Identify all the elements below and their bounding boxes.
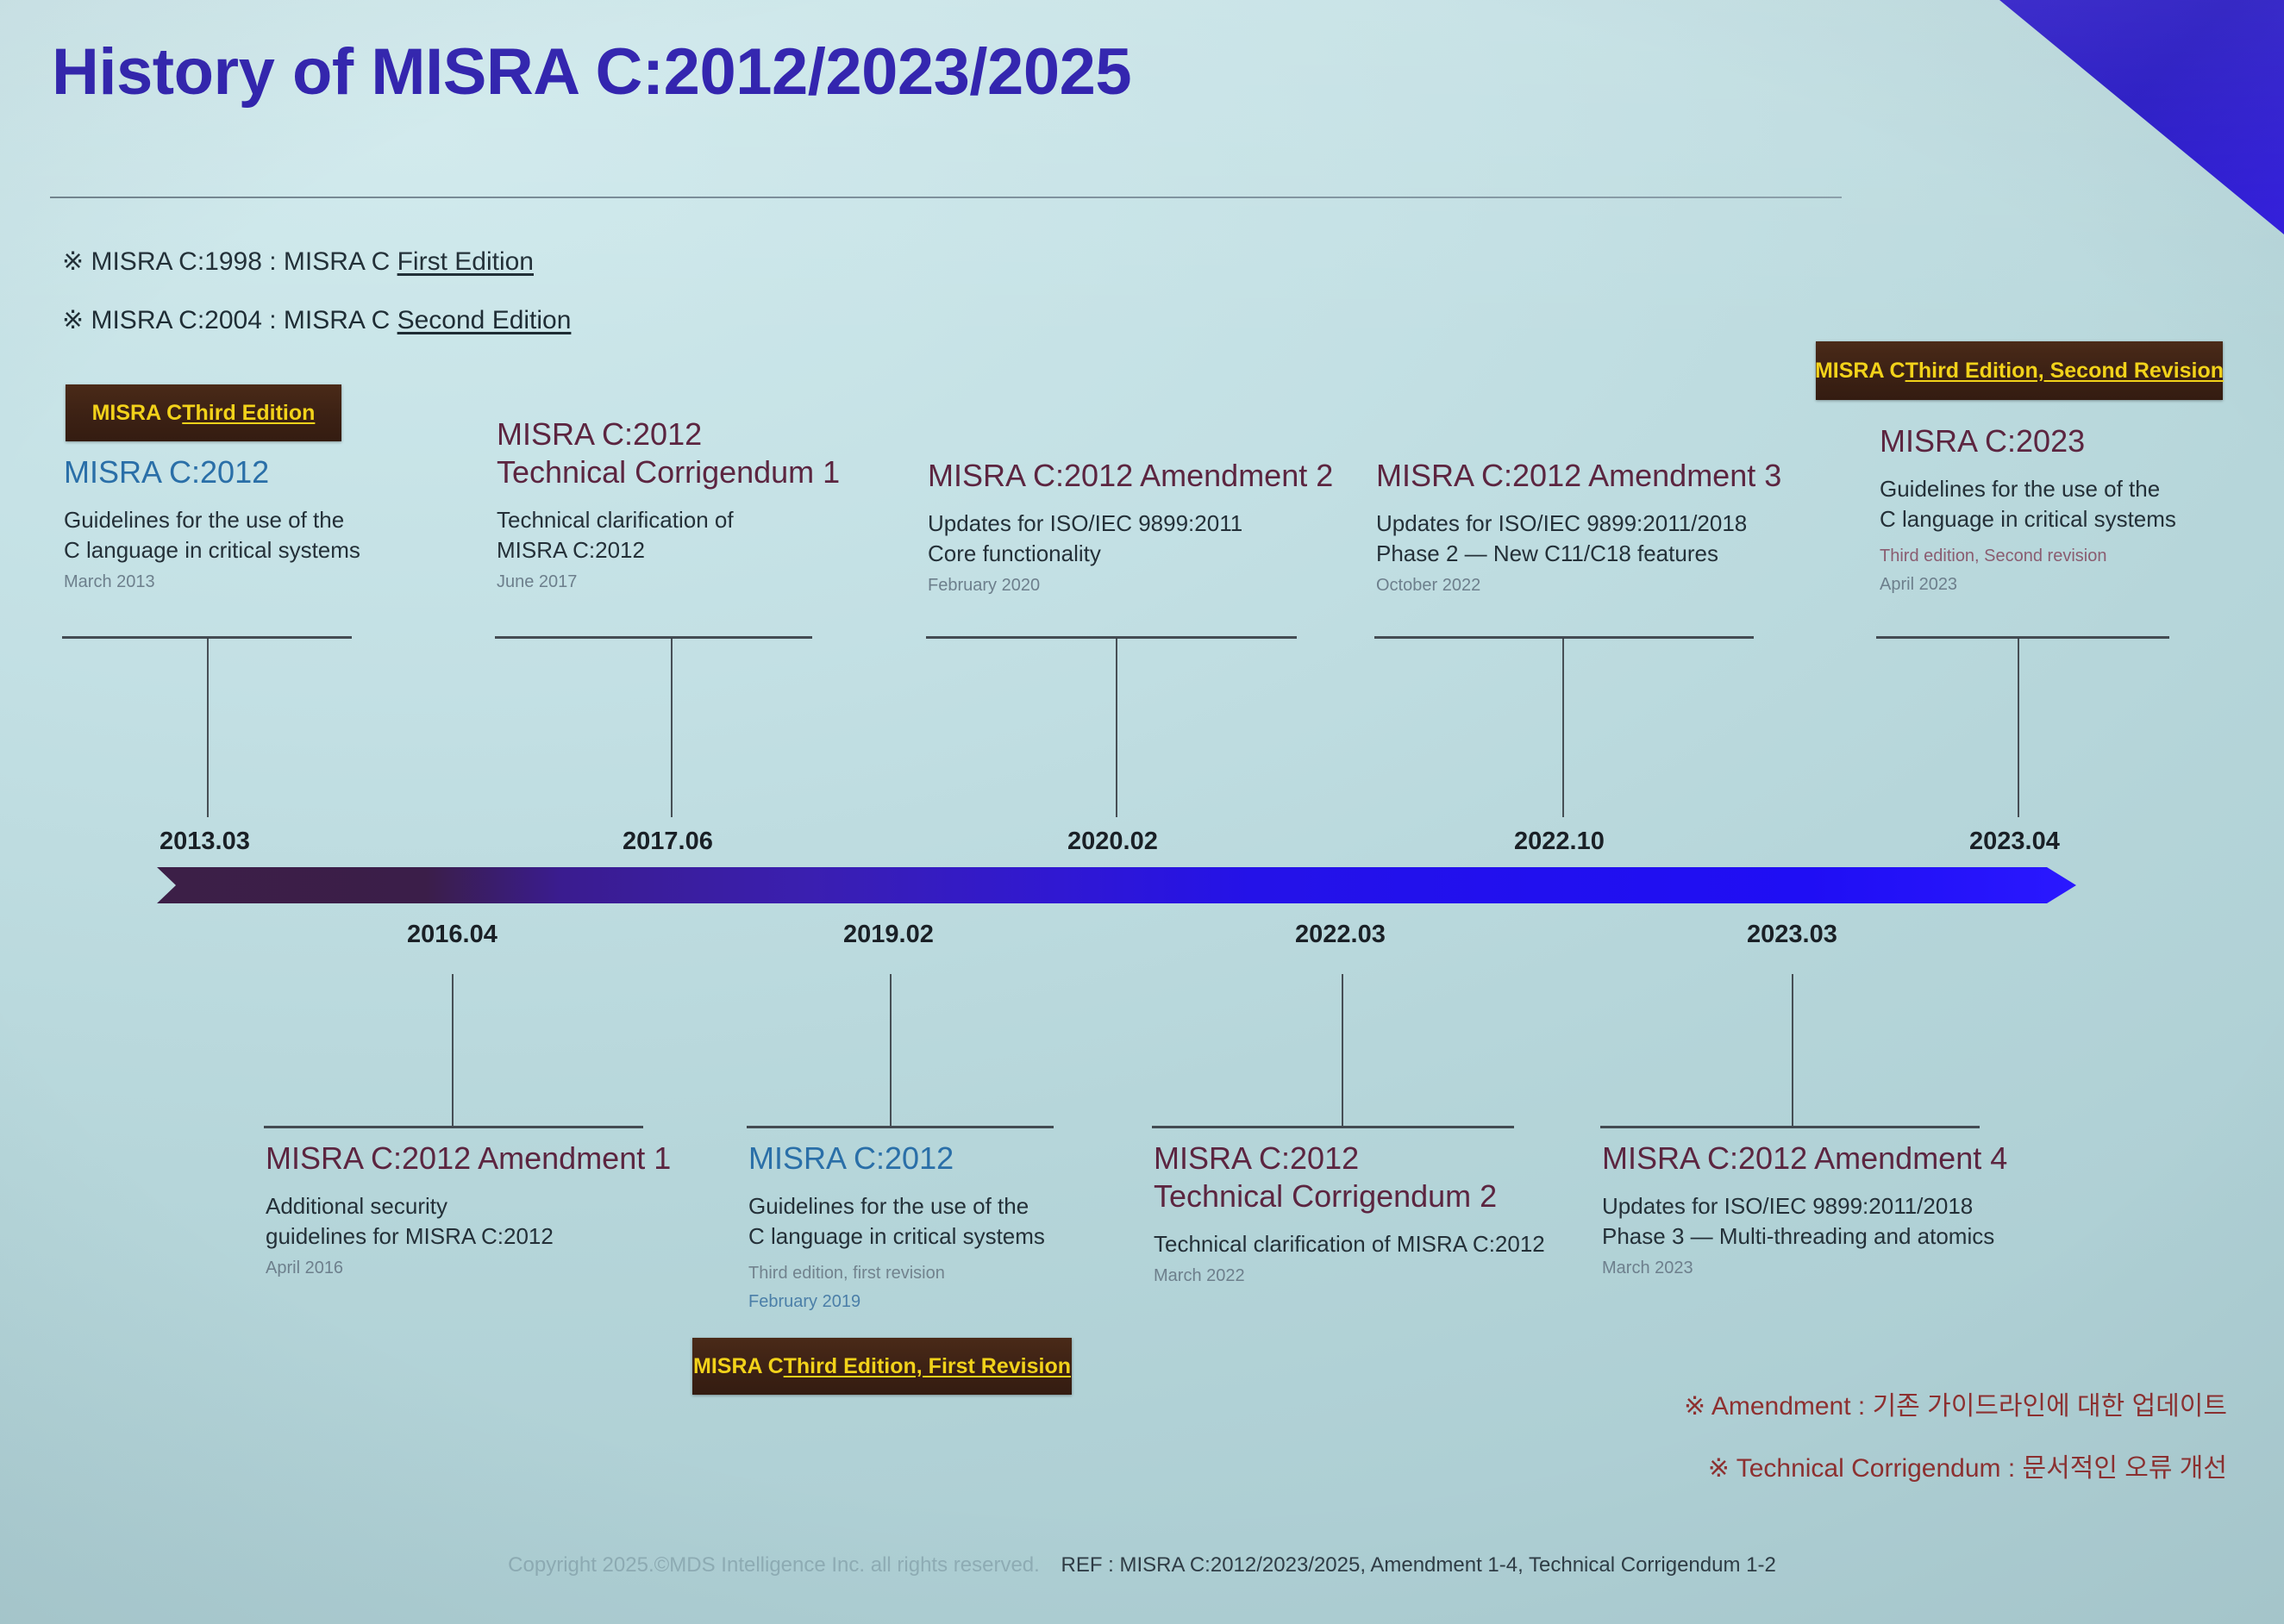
timeline-card-desc: Guidelines for the use of the C language… — [748, 1191, 1045, 1252]
timeline-card-title: MISRA C:2023 — [1880, 422, 2176, 460]
timeline-card-above-3: MISRA C:2012 Amendment 3 Updates for ISO… — [1376, 457, 1781, 597]
timeline-card-title: MISRA C:2012 Technical Corrigendum 1 — [497, 415, 840, 491]
ribbon-underlined: Third Edition, Second Revision — [1905, 359, 2224, 384]
timeline-card-rule — [1876, 636, 2169, 639]
timeline-card-date: June 2017 — [497, 571, 840, 593]
timeline-card-stem — [1116, 638, 1117, 817]
timeline-card-desc: Technical clarification of MISRA C:2012 — [1154, 1229, 1545, 1259]
legend-technical-corrigendum: ※ Technical Corrigendum : 문서적인 오류 개선 — [1708, 1446, 2227, 1484]
timeline-tick-2020-02: 2020.02 — [1067, 828, 1158, 856]
ribbon-prefix: MISRA C — [693, 1354, 784, 1379]
timeline-card-stem — [1562, 638, 1564, 817]
timeline-tick-2023-03: 2023.03 — [1747, 921, 1837, 949]
timeline-card-title: MISRA C:2012 — [64, 453, 360, 491]
timeline-card-above-4: MISRA C:2023 Guidelines for the use of t… — [1880, 422, 2176, 596]
ribbon-third-edition: MISRA C Third Edition — [66, 384, 341, 441]
timeline-card-desc: Updates for ISO/IEC 9899:2011 Core funct… — [928, 509, 1333, 569]
timeline-card-below-3: MISRA C:2012 Amendment 4 Updates for ISO… — [1602, 1140, 2007, 1279]
timeline-card-sub: Third edition, Second revision — [1880, 545, 2176, 568]
page-title: History of MISRA C:2012/2023/2025 — [52, 34, 1131, 109]
timeline-card-title: MISRA C:2012 Amendment 4 — [1602, 1140, 2007, 1177]
timeline-tick-2023-04: 2023.04 — [1969, 828, 2060, 856]
footer-copyright: Copyright 2025.©MDS Intelligence Inc. al… — [508, 1553, 1040, 1577]
timeline-arrow-bar — [157, 867, 2076, 903]
timeline-tick-2016-04: 2016.04 — [407, 921, 497, 949]
timeline-card-date: April 2016 — [266, 1257, 671, 1279]
timeline-card-desc: Updates for ISO/IEC 9899:2011/2018 Phase… — [1602, 1191, 2007, 1252]
screen-vignette — [0, 0, 2284, 1624]
timeline-card-desc: Additional security guidelines for MISRA… — [266, 1191, 671, 1252]
timeline-card-stem — [452, 974, 454, 1126]
edition-note-text: MISRA C:1998 : MISRA C — [91, 247, 397, 276]
timeline-card-date: March 2022 — [1154, 1265, 1545, 1287]
timeline-card-rule — [1600, 1126, 1980, 1128]
timeline-card-sub: Third edition, first revision — [748, 1262, 1045, 1285]
timeline-card-rule — [1374, 636, 1754, 639]
timeline-card-rule — [264, 1126, 643, 1128]
timeline-card-desc: Updates for ISO/IEC 9899:2011/2018 Phase… — [1376, 509, 1781, 569]
timeline-card-stem — [2018, 638, 2019, 817]
title-divider — [50, 197, 1842, 198]
edition-note-underlined: First Edition — [397, 247, 534, 276]
timeline-card-above-0: MISRA C:2012 Guidelines for the use of t… — [64, 453, 360, 593]
timeline-tick-2017-06: 2017.06 — [623, 828, 713, 856]
timeline-card-date: February 2020 — [928, 574, 1333, 597]
timeline-card-rule — [495, 636, 812, 639]
timeline-card-rule — [747, 1126, 1054, 1128]
slide-canvas: History of MISRA C:2012/2023/2025 ※ MISR… — [0, 0, 2284, 1624]
timeline-card-title: MISRA C:2012 Amendment 1 — [266, 1140, 671, 1177]
timeline-tick-2022-03: 2022.03 — [1295, 921, 1386, 949]
timeline-card-stem — [890, 974, 892, 1126]
timeline-card-below-0: MISRA C:2012 Amendment 1 Additional secu… — [266, 1140, 671, 1279]
timeline-card-rule — [926, 636, 1297, 639]
timeline-card-below-1: MISRA C:2012 Guidelines for the use of t… — [748, 1140, 1045, 1313]
timeline-card-stem — [1342, 974, 1343, 1126]
edition-note-underlined: Second Edition — [397, 306, 572, 334]
timeline-card-stem — [207, 638, 209, 817]
timeline-card-rule — [1152, 1126, 1514, 1128]
footer-reference: REF : MISRA C:2012/2023/2025, Amendment … — [1061, 1553, 1775, 1577]
timeline-card-desc: Guidelines for the use of the C language… — [1880, 474, 2176, 534]
edition-note-2004: ※ MISRA C:2004 : MISRA C Second Edition — [62, 305, 571, 335]
legend-amendment: ※ Amendment : 기존 가이드라인에 대한 업데이트 — [1684, 1384, 2227, 1422]
timeline-card-stem — [1792, 974, 1793, 1126]
edition-note-marker: ※ — [62, 247, 91, 276]
ribbon-third-edition-first-revision: MISRA C Third Edition, First Revision — [692, 1338, 1072, 1395]
timeline-card-stem — [671, 638, 673, 817]
timeline-tick-2022-10: 2022.10 — [1514, 828, 1605, 856]
ribbon-prefix: MISRA C — [1815, 359, 1905, 384]
timeline-card-title: MISRA C:2012 Technical Corrigendum 2 — [1154, 1140, 1545, 1215]
timeline-tick-2019-02: 2019.02 — [843, 921, 934, 949]
corner-triangle-decoration — [1999, 0, 2284, 234]
ribbon-third-edition-second-revision: MISRA C Third Edition, Second Revision — [1816, 341, 2223, 400]
timeline-card-desc: Technical clarification of MISRA C:2012 — [497, 505, 840, 565]
ribbon-underlined: Third Edition — [182, 401, 315, 426]
ribbon-prefix: MISRA C — [92, 401, 183, 426]
timeline-card-date: April 2023 — [1880, 573, 2176, 596]
timeline-card-title: MISRA C:2012 — [748, 1140, 1045, 1177]
timeline-card-title: MISRA C:2012 Amendment 2 — [928, 457, 1333, 495]
timeline-card-title: MISRA C:2012 Amendment 3 — [1376, 457, 1781, 495]
timeline-card-above-2: MISRA C:2012 Amendment 2 Updates for ISO… — [928, 457, 1333, 597]
timeline-card-date: February 2019 — [748, 1290, 1045, 1313]
timeline-card-below-2: MISRA C:2012 Technical Corrigendum 2 Tec… — [1154, 1140, 1545, 1287]
ribbon-underlined: Third Edition, First Revision — [784, 1354, 1071, 1379]
timeline-tick-2013-03: 2013.03 — [160, 828, 250, 856]
timeline-card-above-1: MISRA C:2012 Technical Corrigendum 1 Tec… — [497, 415, 840, 593]
timeline-card-desc: Guidelines for the use of the C language… — [64, 505, 360, 565]
edition-note-marker: ※ — [62, 306, 91, 334]
edition-note-1998: ※ MISRA C:1998 : MISRA C First Edition — [62, 247, 534, 277]
timeline-card-date: October 2022 — [1376, 574, 1781, 597]
timeline-card-date: March 2013 — [64, 571, 360, 593]
footer: Copyright 2025.©MDS Intelligence Inc. al… — [0, 1553, 2284, 1577]
timeline-card-date: March 2023 — [1602, 1257, 2007, 1279]
edition-note-text: MISRA C:2004 : MISRA C — [91, 306, 397, 334]
